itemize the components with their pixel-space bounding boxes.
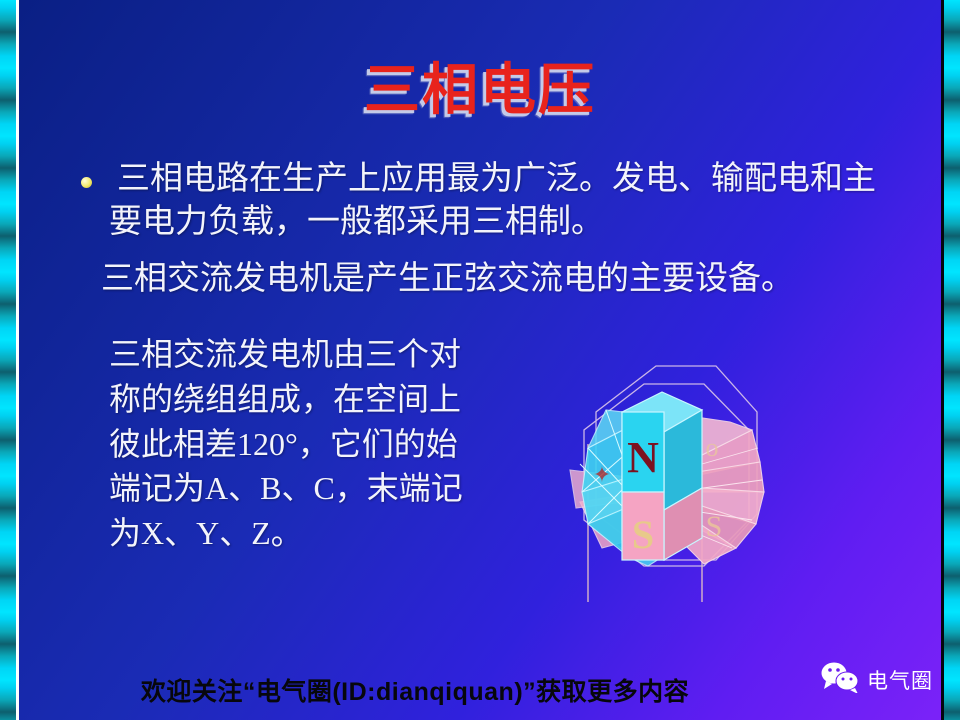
right-divider-rule: [941, 0, 944, 720]
wechat-badge: 电气圈: [820, 661, 933, 698]
rotor-south-pole-label: S: [632, 512, 654, 557]
bullet-item-text: 三相电路在生产上应用最为广泛。发电、输配电和主要电力负载，一般都采用三相制。: [109, 158, 889, 244]
promo-banner-text: 欢迎关注“电气圈(ID:dianqiquan)”获取更多内容: [19, 672, 941, 708]
rear-pole-label-s: S: [706, 510, 723, 543]
paragraph-generator-intro: 三相交流发电机是产生正弦交流电的主要设备。: [101, 258, 901, 301]
slide-canvas: 三相电压 三相电路在生产上应用最为广泛。发电、输配电和主要电力负载，一般都采用三…: [19, 0, 941, 720]
right-decorative-stripe: [944, 0, 960, 720]
rear-pole-label-left: ✦: [593, 462, 611, 487]
presentation-slide: 三相电压 三相电路在生产上应用最为广泛。发电、输配电和主要电力负载，一般都采用三…: [0, 0, 960, 720]
wechat-icon: [820, 661, 860, 698]
slide-title: 三相电压: [19, 62, 941, 121]
wechat-account-name: 电气圈: [867, 665, 933, 695]
bullet-item: 三相电路在生产上应用最为广泛。发电、输配电和主要电力负载，一般都采用三相制。: [67, 158, 889, 244]
left-decorative-stripe: [0, 0, 16, 720]
rotor-north-pole-label: N: [627, 433, 659, 482]
generator-diagram: N S o S ✦: [544, 352, 794, 607]
bullet-dot-icon: [81, 177, 92, 188]
paragraph-winding-description: 三相交流发电机由三个对称的绕组组成，在空间上彼此相差120°，它们的始端记为A、…: [109, 332, 479, 556]
rear-pole-label-n: o: [706, 433, 719, 462]
